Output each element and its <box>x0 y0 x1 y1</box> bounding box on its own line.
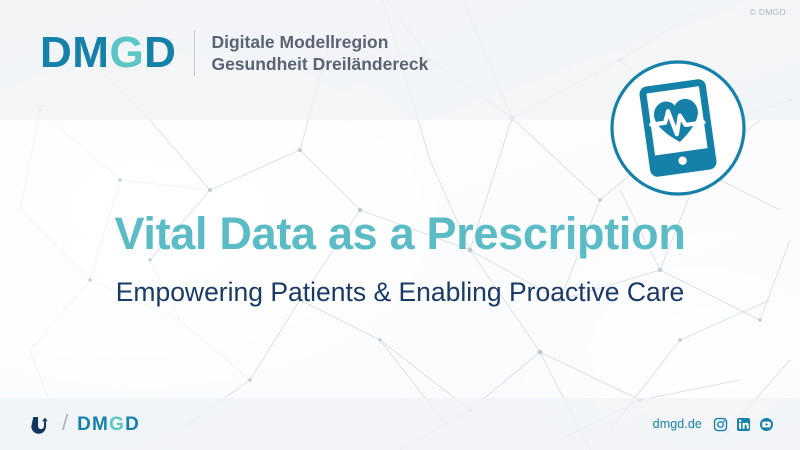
brand-wordmark-dm: DM <box>40 28 109 77</box>
brand-wordmark: DMGD <box>40 31 176 75</box>
presentation-slide: © DMGD DMGD Digitale Modellregion Gesund… <box>0 0 800 450</box>
brand-subtitle-line2: Gesundheit Dreiländereck <box>211 53 428 75</box>
brand-subtitle: Digitale Modellregion Gesundheit Dreilän… <box>211 31 428 76</box>
instagram-icon[interactable] <box>713 417 728 432</box>
brand-divider <box>194 30 195 76</box>
footer-wordmark-dm: DM <box>77 414 109 435</box>
brand-wordmark-d: D <box>144 28 176 77</box>
website-link[interactable]: dmgd.de <box>653 417 702 431</box>
copyright-label: © DMGD <box>750 7 786 17</box>
tablet-heart-pulse-icon <box>608 58 748 198</box>
linkedin-icon[interactable] <box>736 417 751 432</box>
footer-wordmark-g: G <box>109 414 125 435</box>
brand-subtitle-line1: Digitale Modellregion <box>211 31 428 53</box>
footer-wordmark: DMGD <box>77 415 140 434</box>
u-mark-icon <box>30 413 52 435</box>
footer-brand-group: / DMGD <box>30 398 140 450</box>
footer-separator: / <box>62 412 68 434</box>
footer-wordmark-d: D <box>125 414 140 435</box>
footer: / DMGD dmgd.de <box>0 398 800 450</box>
slide-title: Vital Data as a Prescription <box>114 210 685 257</box>
brand-wordmark-g: G <box>109 28 144 77</box>
brand-lockup: DMGD Digitale Modellregion Gesundheit Dr… <box>40 30 428 76</box>
youtube-icon[interactable] <box>759 417 774 432</box>
slide-subtitle: Empowering Patients & Enabling Proactive… <box>116 277 685 307</box>
footer-links-group: dmgd.de <box>653 398 774 450</box>
